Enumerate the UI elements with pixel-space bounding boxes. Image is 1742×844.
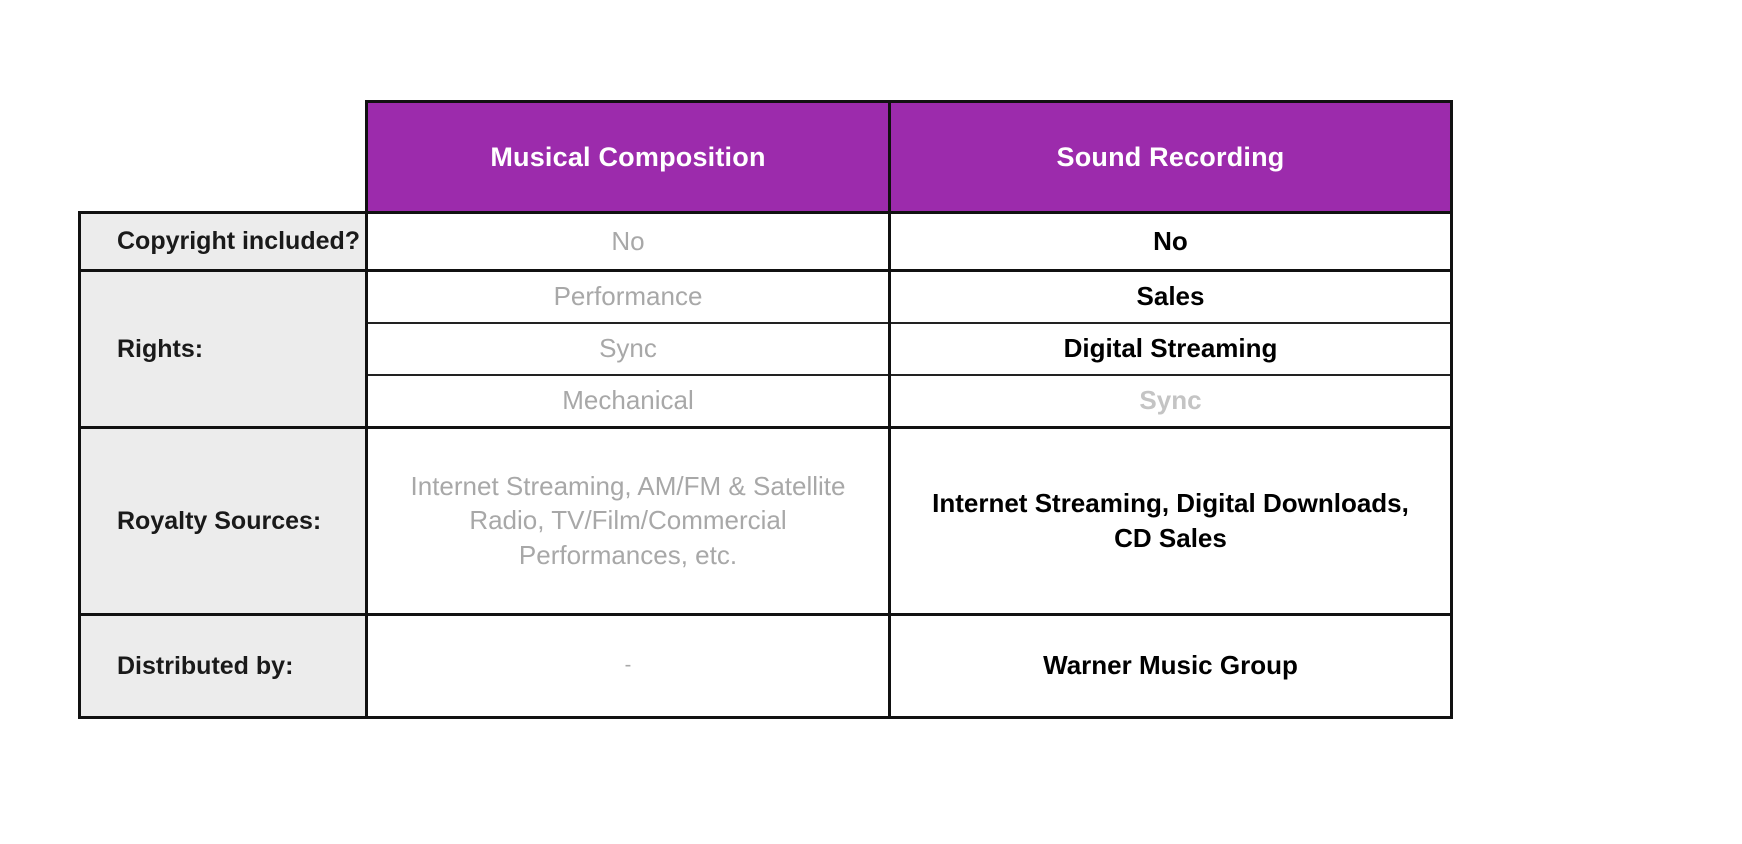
row-label-rights: Rights: (80, 270, 367, 427)
rights-composition-subrow: Performance (368, 272, 888, 323)
row-label-royalty-sources: Royalty Sources: (80, 427, 367, 614)
rights-composition-item-mechanical: Mechanical (368, 375, 888, 426)
rights-recording-subrow: Sales (891, 272, 1450, 323)
column-header-sound-recording: Sound Recording (890, 102, 1452, 213)
cell-distributed-by-recording: Warner Music Group (890, 614, 1452, 717)
rights-recording-subrow: Sync (891, 375, 1450, 426)
rights-composition-list: Performance Sync Mechanical (368, 272, 888, 426)
table-row-royalty-sources: Royalty Sources: Internet Streaming, AM/… (80, 427, 1452, 614)
rights-recording-item-sales: Sales (891, 272, 1450, 323)
page-canvas: Musical Composition Sound Recording Copy… (0, 0, 1742, 844)
comparison-table: Musical Composition Sound Recording Copy… (78, 100, 1453, 719)
cell-rights-composition: Performance Sync Mechanical (367, 270, 890, 427)
row-label-distributed-by: Distributed by: (80, 614, 367, 717)
rights-composition-subrow: Mechanical (368, 375, 888, 426)
rights-recording-list: Sales Digital Streaming Sync (891, 272, 1450, 426)
cell-copyright-included-recording: No (890, 213, 1452, 271)
rights-recording-subrow: Digital Streaming (891, 323, 1450, 375)
rights-composition-subrow: Sync (368, 323, 888, 375)
rights-composition-item-performance: Performance (368, 272, 888, 323)
rights-recording-item-sync: Sync (891, 375, 1450, 426)
column-header-musical-composition: Musical Composition (367, 102, 890, 213)
table-body: Copyright included? No No Rights: Perfor… (80, 213, 1452, 718)
header-corner-empty (80, 102, 367, 213)
rights-composition-item-sync: Sync (368, 323, 888, 375)
rights-recording-item-digital-streaming: Digital Streaming (891, 323, 1450, 375)
table-row-rights: Rights: Performance Sync Mechanical (80, 270, 1452, 427)
table-row-copyright-included: Copyright included? No No (80, 213, 1452, 271)
table-header: Musical Composition Sound Recording (80, 102, 1452, 213)
cell-copyright-included-composition: No (367, 213, 890, 271)
cell-distributed-by-composition: - (367, 614, 890, 717)
cell-royalty-sources-recording: Internet Streaming, Digital Downloads, C… (890, 427, 1452, 614)
header-row: Musical Composition Sound Recording (80, 102, 1452, 213)
cell-royalty-sources-composition: Internet Streaming, AM/FM & Satellite Ra… (367, 427, 890, 614)
table-row-distributed-by: Distributed by: - Warner Music Group (80, 614, 1452, 717)
cell-rights-recording: Sales Digital Streaming Sync (890, 270, 1452, 427)
row-label-copyright-included: Copyright included? (80, 213, 367, 271)
